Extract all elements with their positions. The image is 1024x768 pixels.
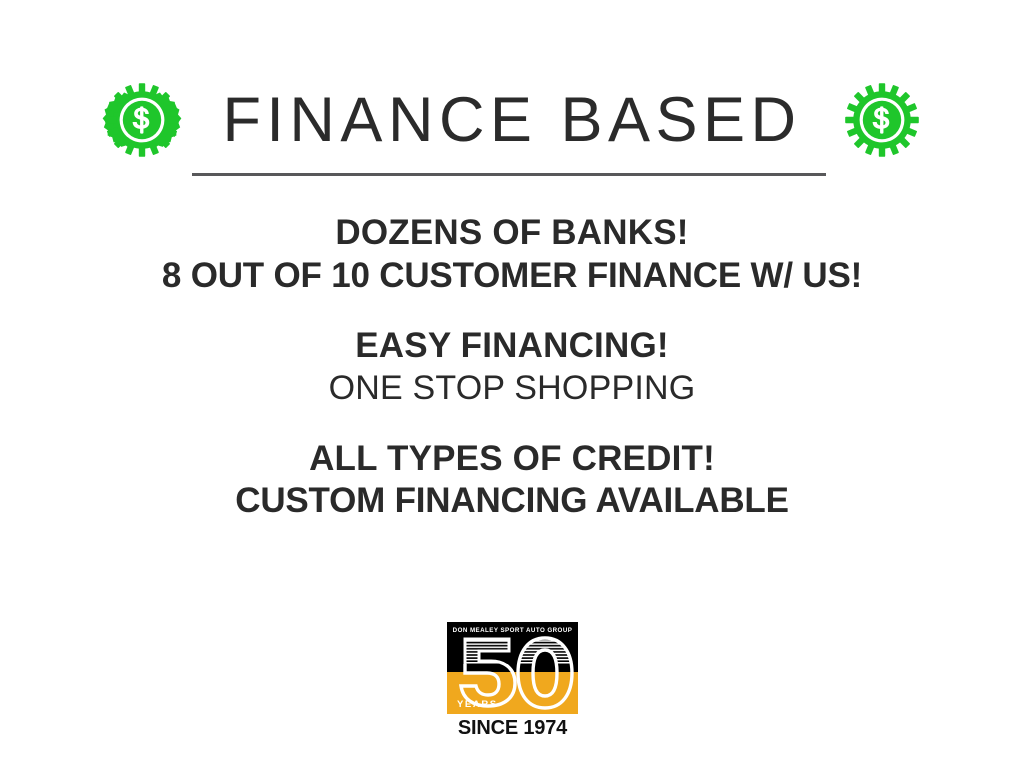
header-divider — [192, 173, 826, 176]
copy-group-credit: ALL TYPES OF CREDIT! CUSTOM FINANCING AV… — [0, 438, 1024, 523]
copy-group-banks: DOZENS OF BANKS! 8 OUT OF 10 CUSTOMER FI… — [0, 212, 1024, 297]
body-copy: DOZENS OF BANKS! 8 OUT OF 10 CUSTOMER FI… — [0, 212, 1024, 523]
money-gear-icon — [842, 80, 922, 160]
logo-years-label: YEARS — [457, 699, 498, 710]
logo-company-name: DON MEALEY SPORT AUTO GROUP — [447, 627, 578, 634]
copy-headline: ALL TYPES OF CREDIT! — [0, 438, 1024, 481]
copy-headline: DOZENS OF BANKS! — [0, 212, 1024, 255]
header: FINANCE BASED — [0, 72, 1024, 168]
copy-group-financing: EASY FINANCING! ONE STOP SHOPPING — [0, 325, 1024, 409]
money-gear-icon — [102, 80, 182, 160]
copy-subline: CUSTOM FINANCING AVAILABLE — [0, 480, 1024, 523]
copy-subline: ONE STOP SHOPPING — [0, 368, 1024, 409]
slide-canvas: FINANCE BASED — [0, 0, 1024, 768]
logo-badge: DON MEALEY SPORT AUTO GROUP — [447, 622, 578, 714]
page-title: FINANCE BASED — [222, 89, 801, 152]
copy-subline: 8 OUT OF 10 CUSTOMER FINANCE W/ US! — [0, 255, 1024, 298]
logo-since-text: SINCE 1974 — [447, 717, 578, 740]
dealer-logo: DON MEALEY SPORT AUTO GROUP — [447, 622, 578, 740]
copy-headline: EASY FINANCING! — [0, 325, 1024, 368]
